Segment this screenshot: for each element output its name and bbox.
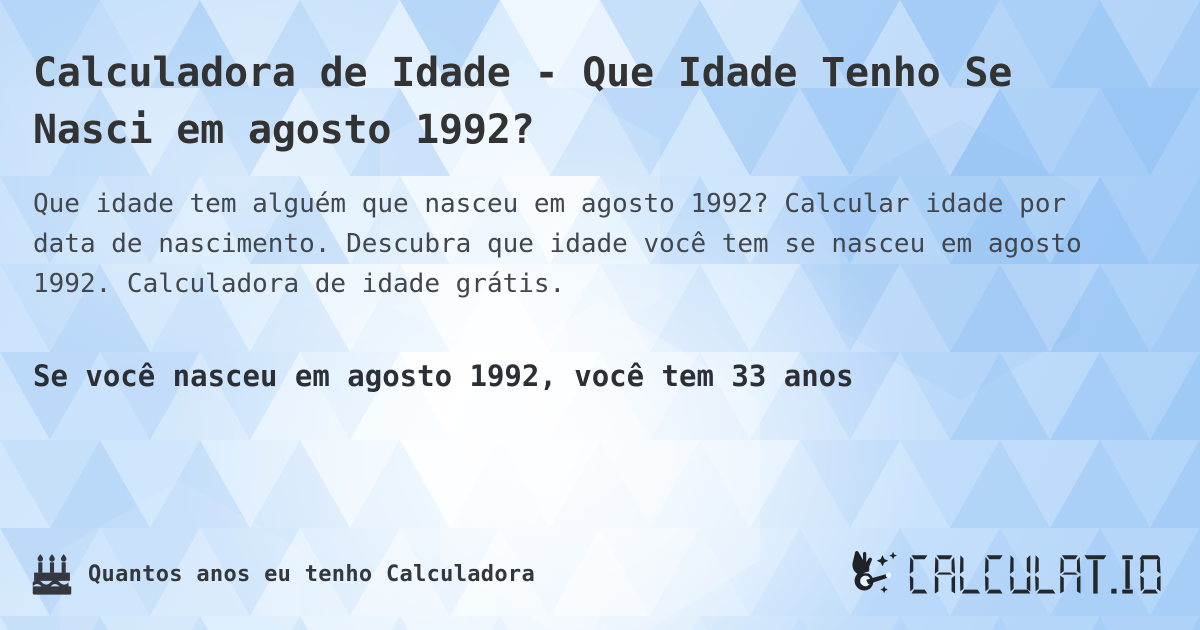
- footer-brand-left-label: Quantos anos eu tenho Calculadora: [88, 562, 535, 587]
- page-description: Que idade tem alguém que nasceu em agost…: [33, 184, 1143, 304]
- magic-wand-hand-icon: [850, 548, 902, 596]
- age-result-text: Se você nasceu em agosto 1992, você tem …: [33, 355, 1173, 397]
- page-title: Calculadora de Idade - Que Idade Tenho S…: [33, 45, 1043, 159]
- birthday-cake-icon: [30, 552, 74, 596]
- calculatio-logo-wordmark: CALCULAT.IO: [908, 550, 1172, 594]
- footer-brand-left: Quantos anos eu tenho Calculadora: [30, 552, 535, 596]
- footer-brand-logo-link[interactable]: CALCULAT.IO: [850, 548, 1172, 596]
- card-footer: Quantos anos eu tenho Calculadora CALCUL…: [0, 534, 1200, 630]
- social-card: Calculadora de Idade - Que Idade Tenho S…: [0, 0, 1200, 630]
